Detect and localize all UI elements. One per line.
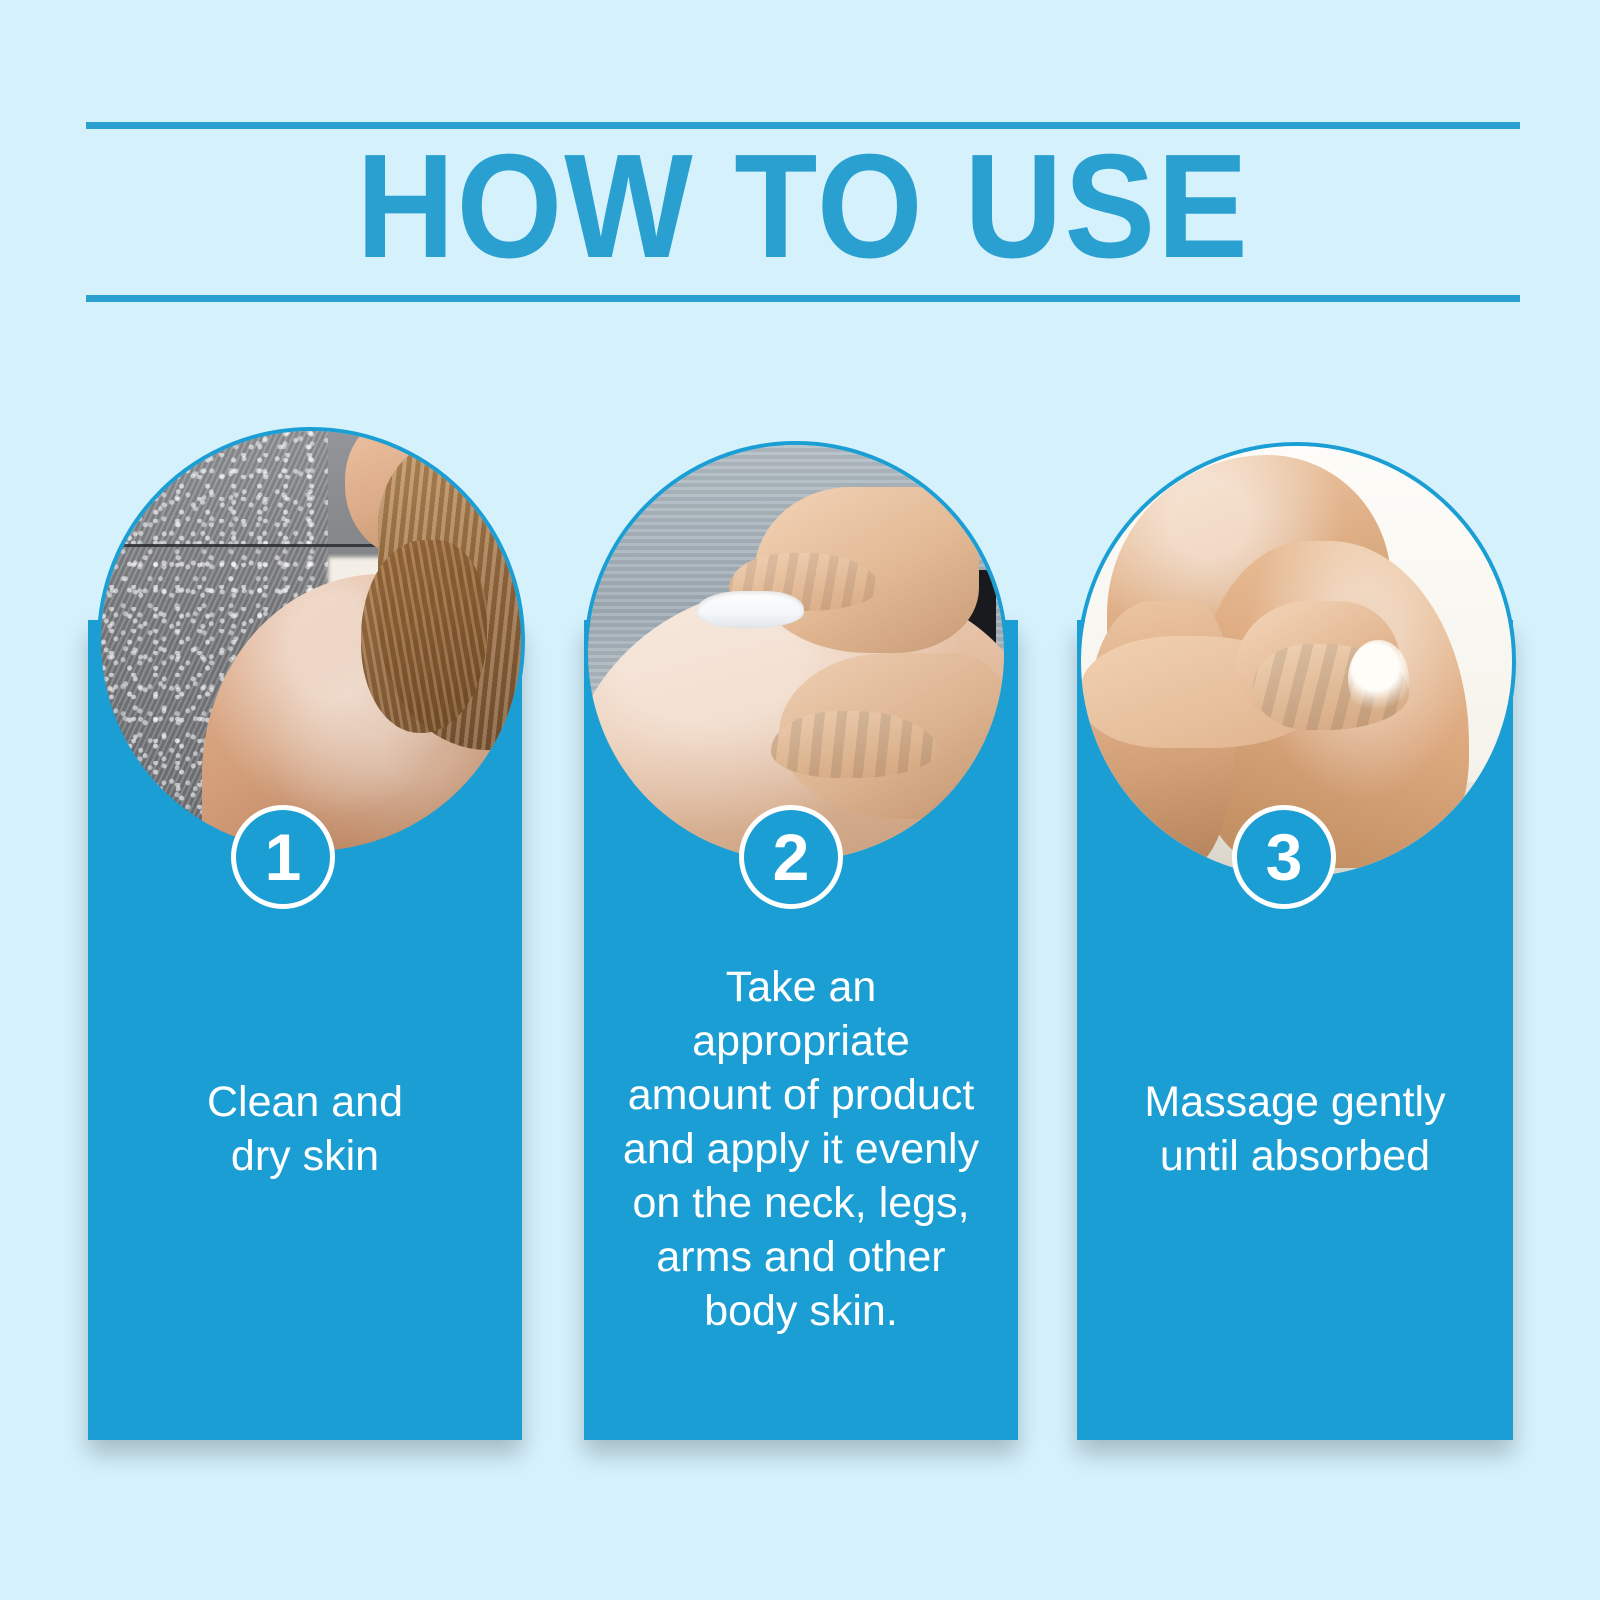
header-block: HOW TO USE (86, 110, 1520, 305)
page-title: HOW TO USE (143, 126, 1462, 288)
step-number-badge-1: 1 (231, 805, 335, 909)
fingernails (1348, 640, 1408, 718)
step-number-badge-3: 3 (1232, 805, 1336, 909)
title-rule-bottom (86, 295, 1520, 302)
step-image-1 (97, 427, 525, 855)
cream-dab (696, 591, 804, 628)
step-caption-1: Clean and dry skin (88, 1075, 522, 1183)
step-caption-2: Take an appropriate amount of product an… (584, 960, 1018, 1338)
apply-cream-scene (588, 445, 1004, 861)
shower-scene (101, 431, 521, 851)
step-caption-3: Massage gently until absorbed (1077, 1075, 1513, 1183)
step-number-badge-2: 2 (739, 805, 843, 909)
step-image-2 (584, 441, 1008, 865)
